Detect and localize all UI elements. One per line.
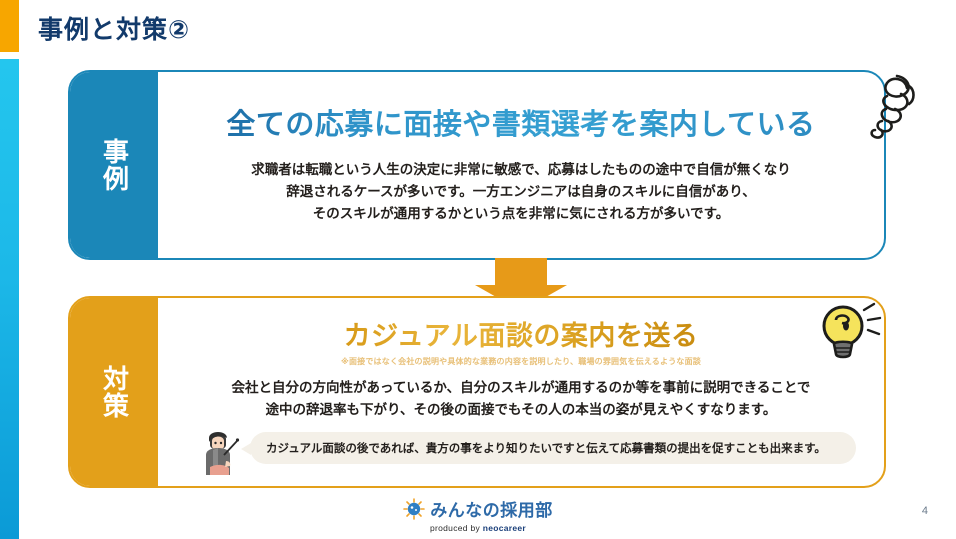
case-body-line: そのスキルが通用するかという点を非常に気にされる方が多いです。 (251, 203, 790, 225)
footer: みんなの採用部 produced by neocareer (0, 496, 956, 533)
page-title: 事例と対策② (38, 10, 190, 46)
brand-neo: neo (483, 523, 499, 533)
case-heading: 全ての応募に面接や書類選考を案内している (226, 101, 815, 143)
case-label-text: 事例 (99, 134, 128, 196)
case-body-text: 求職者は転職という人生の決定に非常に敏感で、応募はしたものの途中で自信が無くなり… (251, 159, 790, 225)
produced-by-label: produced by (430, 523, 483, 533)
action-body-text: 会社と自分の方向性があっているか、自分のスキルが通用するのか等を事前に説明できる… (232, 377, 811, 421)
presenter-person-icon (196, 425, 242, 481)
action-box: 対策 カジュアル面談の案内を送る ※面接ではなく会社の説明や具体的な業務の内容を… (68, 296, 886, 488)
down-arrow-shaft (495, 258, 547, 286)
case-body-line: 辞退されるケースが多いです。一方エンジニアは自身のスキルに自信があり、 (251, 181, 790, 203)
case-box: 事例 全ての応募に面接や書類選考を案内している 求職者は転職という人生の決定に非… (68, 70, 886, 260)
bubble-row: カジュアル面談の後であれば、貴方の事をより知りたいですと伝えて応募書類の提出を促… (172, 429, 870, 480)
speech-bubble-text: カジュアル面談の後であれば、貴方の事をより知りたいですと伝えて応募書類の提出を促… (266, 440, 826, 456)
action-note: ※面接ではなく会社の説明や具体的な業務の内容を説明したり、職場の雰囲気を伝えるよ… (341, 356, 701, 367)
produced-by-line: produced by neocareer (430, 523, 526, 533)
page-number: 4 (922, 505, 928, 517)
speech-bubble: カジュアル面談の後であれば、貴方の事をより知りたいですと伝えて応募書類の提出を促… (250, 432, 856, 464)
case-label-panel: 事例 (70, 72, 158, 258)
brand-career: career (499, 523, 526, 533)
case-body-line: 求職者は転職という人生の決定に非常に敏感で、応募はしたものの途中で自信が無くなり (251, 159, 790, 181)
slide-root: 事例と対策② 事例 全ての応募に面接や書類選考を案内している 求職者は転職という… (0, 0, 956, 539)
accent-bar-cyan (0, 59, 19, 539)
case-body: 全ての応募に面接や書類選考を案内している 求職者は転職という人生の決定に非常に敏… (158, 72, 884, 258)
accent-bar-orange (0, 0, 19, 52)
action-label-text: 対策 (99, 361, 128, 423)
brand-logo: みんなの採用部 (403, 496, 553, 521)
action-body-line: 途中の辞退率も下がり、その後の面接でもその人の本当の姿が見えやくすなります。 (232, 399, 811, 421)
action-body: カジュアル面談の案内を送る ※面接ではなく会社の説明や具体的な業務の内容を説明し… (158, 298, 884, 486)
sun-gear-logo-icon (403, 498, 425, 520)
brand-logo-text: みんなの採用部 (430, 496, 553, 521)
action-heading: カジュアル面談の案内を送る (344, 314, 699, 353)
action-body-line: 会社と自分の方向性があっているか、自分のスキルが通用するのか等を事前に説明できる… (232, 377, 811, 399)
action-label-panel: 対策 (70, 298, 158, 486)
